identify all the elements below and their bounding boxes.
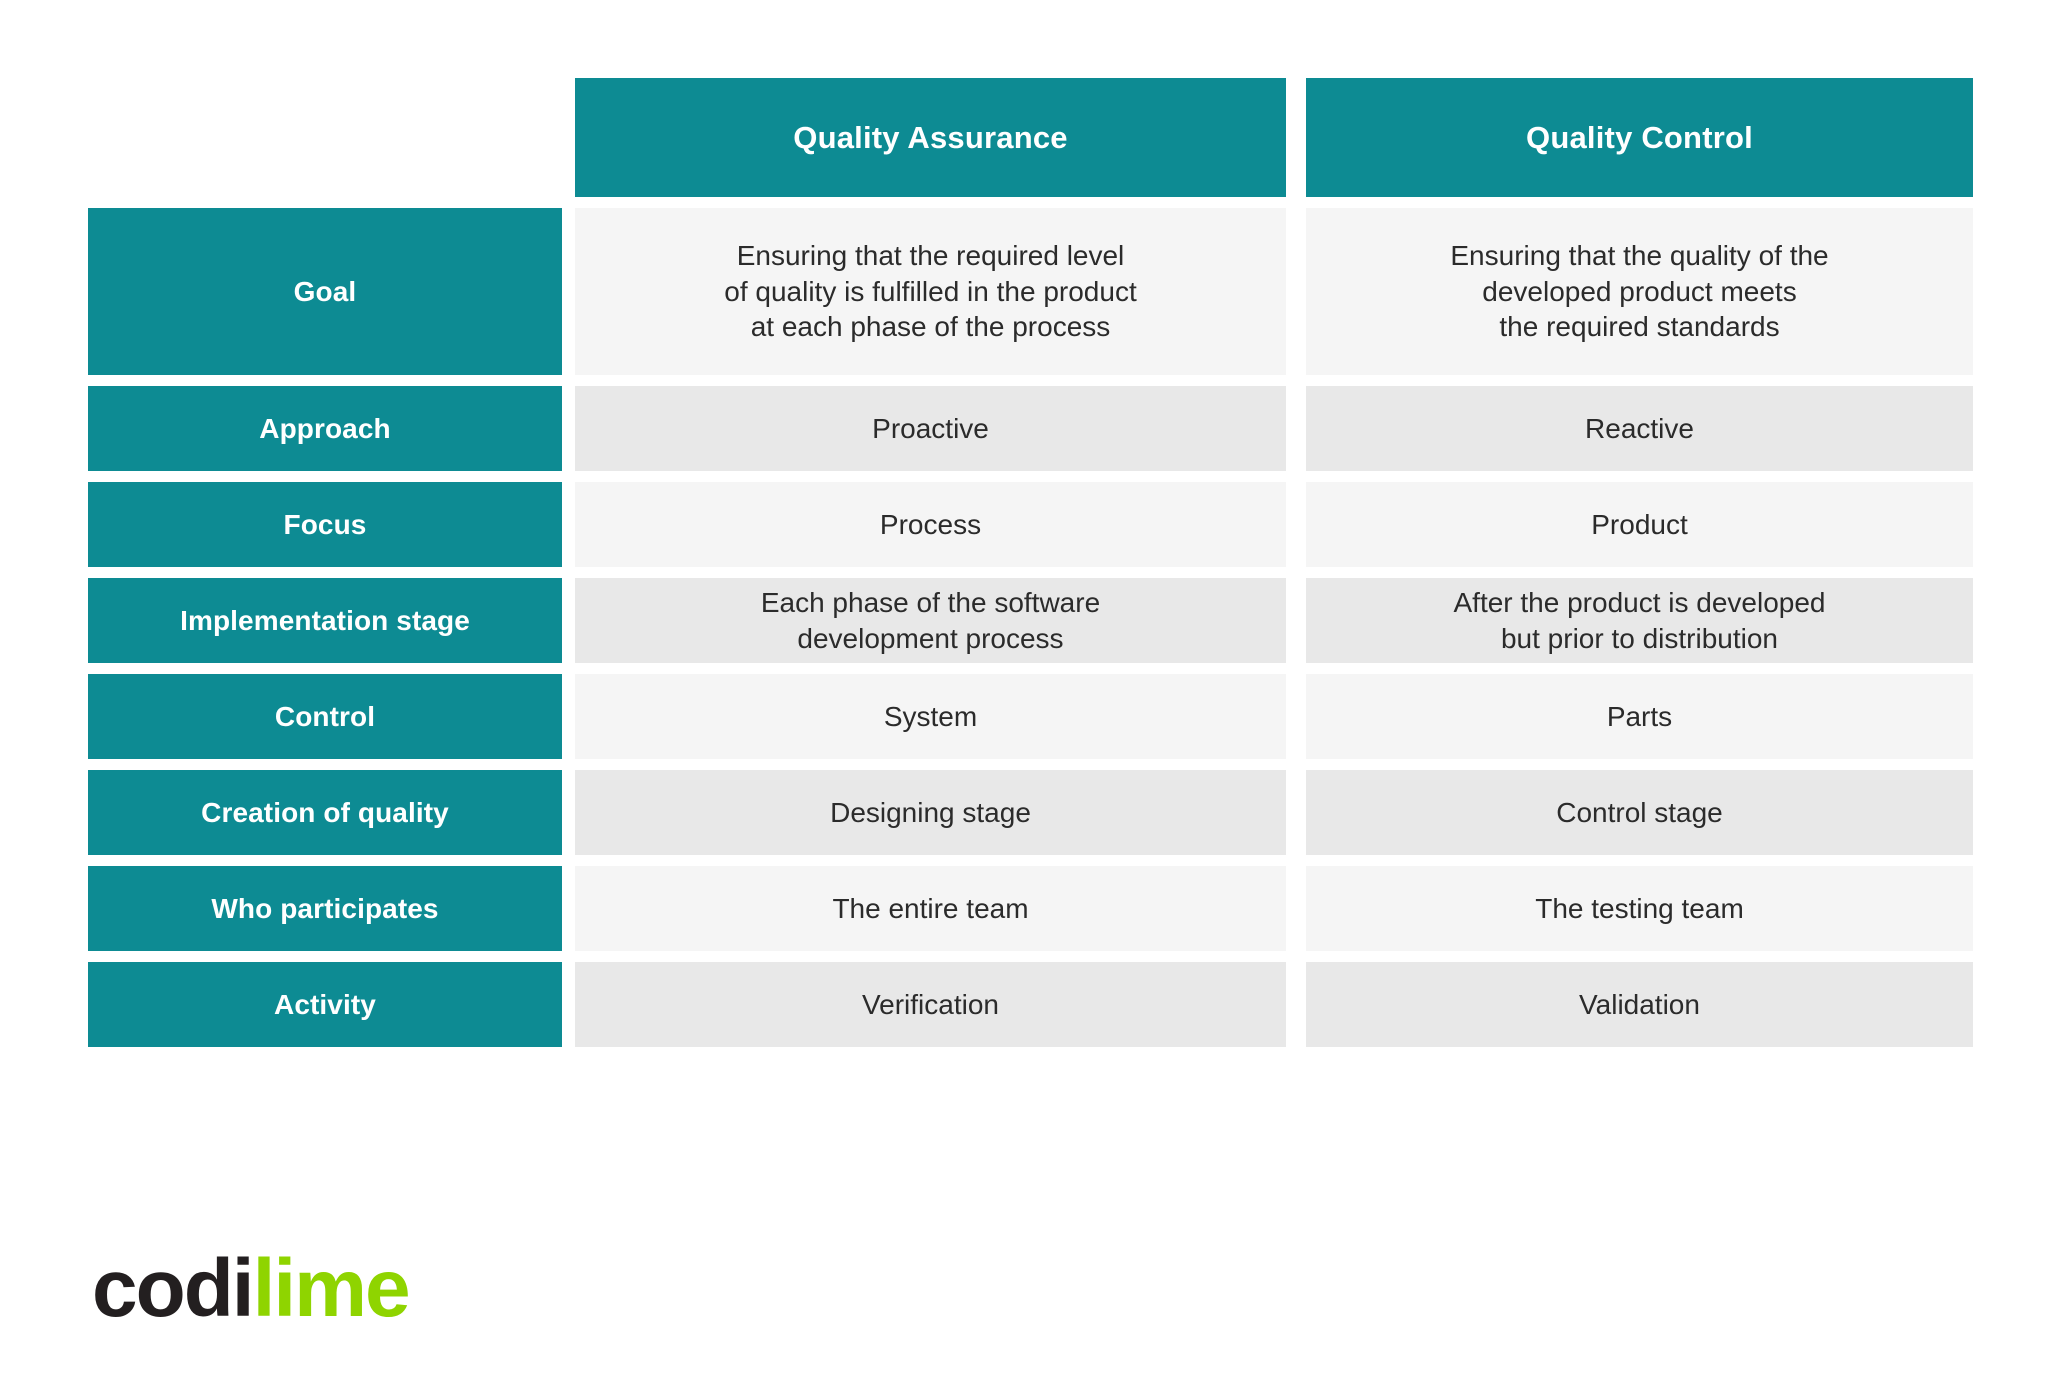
row-label-goal: Goal (88, 208, 562, 375)
row-label-approach: Approach (88, 386, 562, 471)
row-label-control: Control (88, 674, 562, 759)
qa-vs-qc-comparison-table: Quality AssuranceQuality ControlGoalEnsu… (88, 78, 1960, 1047)
cell-qa-3: Each phase of the softwaredevelopment pr… (575, 578, 1286, 663)
slide-canvas: Quality AssuranceQuality ControlGoalEnsu… (0, 0, 2048, 1393)
row-label-who-participates: Who participates (88, 866, 562, 951)
cell-qa-1: Proactive (575, 386, 1286, 471)
cell-qc-4: Parts (1306, 674, 1973, 759)
cell-qc-6: The testing team (1306, 866, 1973, 951)
cell-qc-3: After the product is developedbut prior … (1306, 578, 1973, 663)
cell-qa-4: System (575, 674, 1286, 759)
cell-qa-0: Ensuring that the required levelof quali… (575, 208, 1286, 375)
row-label-activity: Activity (88, 962, 562, 1047)
cell-qc-2: Product (1306, 482, 1973, 567)
logo-text-lime: lime (253, 1243, 409, 1334)
table-corner-spacer (88, 78, 562, 197)
column-header-quality-assurance: Quality Assurance (575, 78, 1286, 197)
cell-qc-1: Reactive (1306, 386, 1973, 471)
row-label-implementation-stage: Implementation stage (88, 578, 562, 663)
cell-qc-7: Validation (1306, 962, 1973, 1047)
cell-qc-5: Control stage (1306, 770, 1973, 855)
cell-qa-6: The entire team (575, 866, 1286, 951)
codilime-logo: codilime (92, 1248, 409, 1330)
row-label-focus: Focus (88, 482, 562, 567)
logo-text-codi: codi (92, 1243, 253, 1334)
cell-qc-0: Ensuring that the quality of thedevelope… (1306, 208, 1973, 375)
cell-qa-5: Designing stage (575, 770, 1286, 855)
column-header-quality-control: Quality Control (1306, 78, 1973, 197)
cell-qa-7: Verification (575, 962, 1286, 1047)
cell-qa-2: Process (575, 482, 1286, 567)
row-label-creation-of-quality: Creation of quality (88, 770, 562, 855)
